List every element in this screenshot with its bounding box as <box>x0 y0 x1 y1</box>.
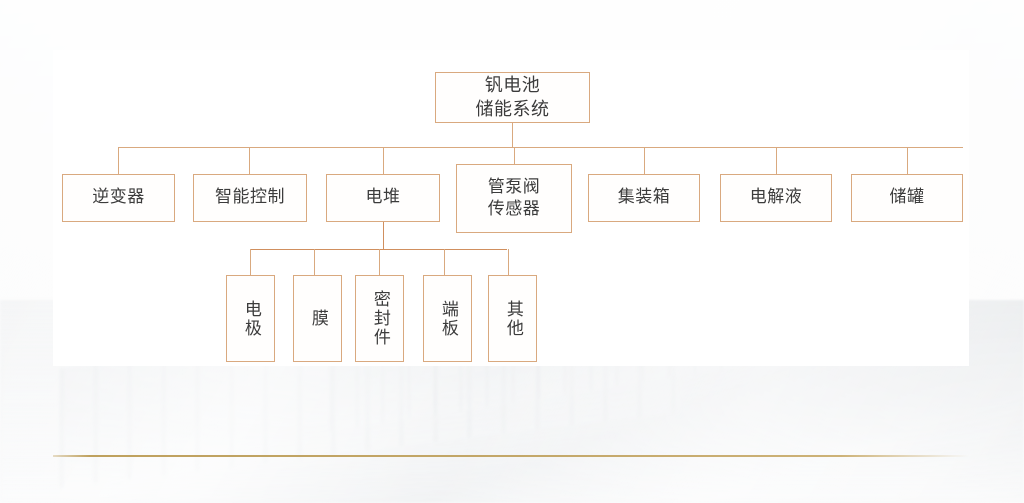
connector-stack-stem <box>383 222 384 249</box>
node-electrolyte[interactable]: 电解液 <box>720 174 832 222</box>
node-stack[interactable]: 电堆 <box>326 174 440 222</box>
connector-drop-pump <box>514 147 515 164</box>
node-storage-tank[interactable]: 储罐 <box>851 174 963 222</box>
node-end-plate[interactable]: 端板 <box>423 275 472 362</box>
connector-drop-container <box>644 147 645 174</box>
node-container[interactable]: 集装箱 <box>588 174 700 222</box>
connector-drop-membrane <box>314 249 315 275</box>
gold-divider-rule <box>53 455 969 457</box>
node-electrode[interactable]: 电极 <box>226 275 275 362</box>
connector-drop-stack <box>383 147 384 174</box>
node-pipe-pump-valve-sensor[interactable]: 管泵阀 传感器 <box>456 164 572 233</box>
connector-drop-electrolyte <box>776 147 777 174</box>
connector-drop-endplate <box>444 249 445 275</box>
connector-root-stem <box>512 123 513 147</box>
node-root-vanadium-storage-system[interactable]: 钒电池 储能系统 <box>435 72 590 123</box>
connector-drop-seal <box>379 249 380 275</box>
node-inverter[interactable]: 逆变器 <box>62 174 175 222</box>
connector-level2-bus <box>118 147 963 148</box>
connector-drop-control <box>249 147 250 174</box>
node-other[interactable]: 其他 <box>488 275 537 362</box>
node-membrane[interactable]: 膜 <box>293 275 342 362</box>
slide-background: 钒电池 储能系统 逆变器 智能控制 电堆 管泵阀 传感器 集装箱 电解液 储罐 … <box>0 0 1024 503</box>
connector-drop-inverter <box>118 147 119 174</box>
connector-drop-tank <box>907 147 908 174</box>
node-seal[interactable]: 密封件 <box>355 275 404 362</box>
org-chart-panel: 钒电池 储能系统 逆变器 智能控制 电堆 管泵阀 传感器 集装箱 电解液 储罐 … <box>53 50 969 366</box>
node-intelligent-control[interactable]: 智能控制 <box>193 174 307 222</box>
connector-drop-other <box>508 249 509 275</box>
connector-drop-electrode <box>250 249 251 275</box>
